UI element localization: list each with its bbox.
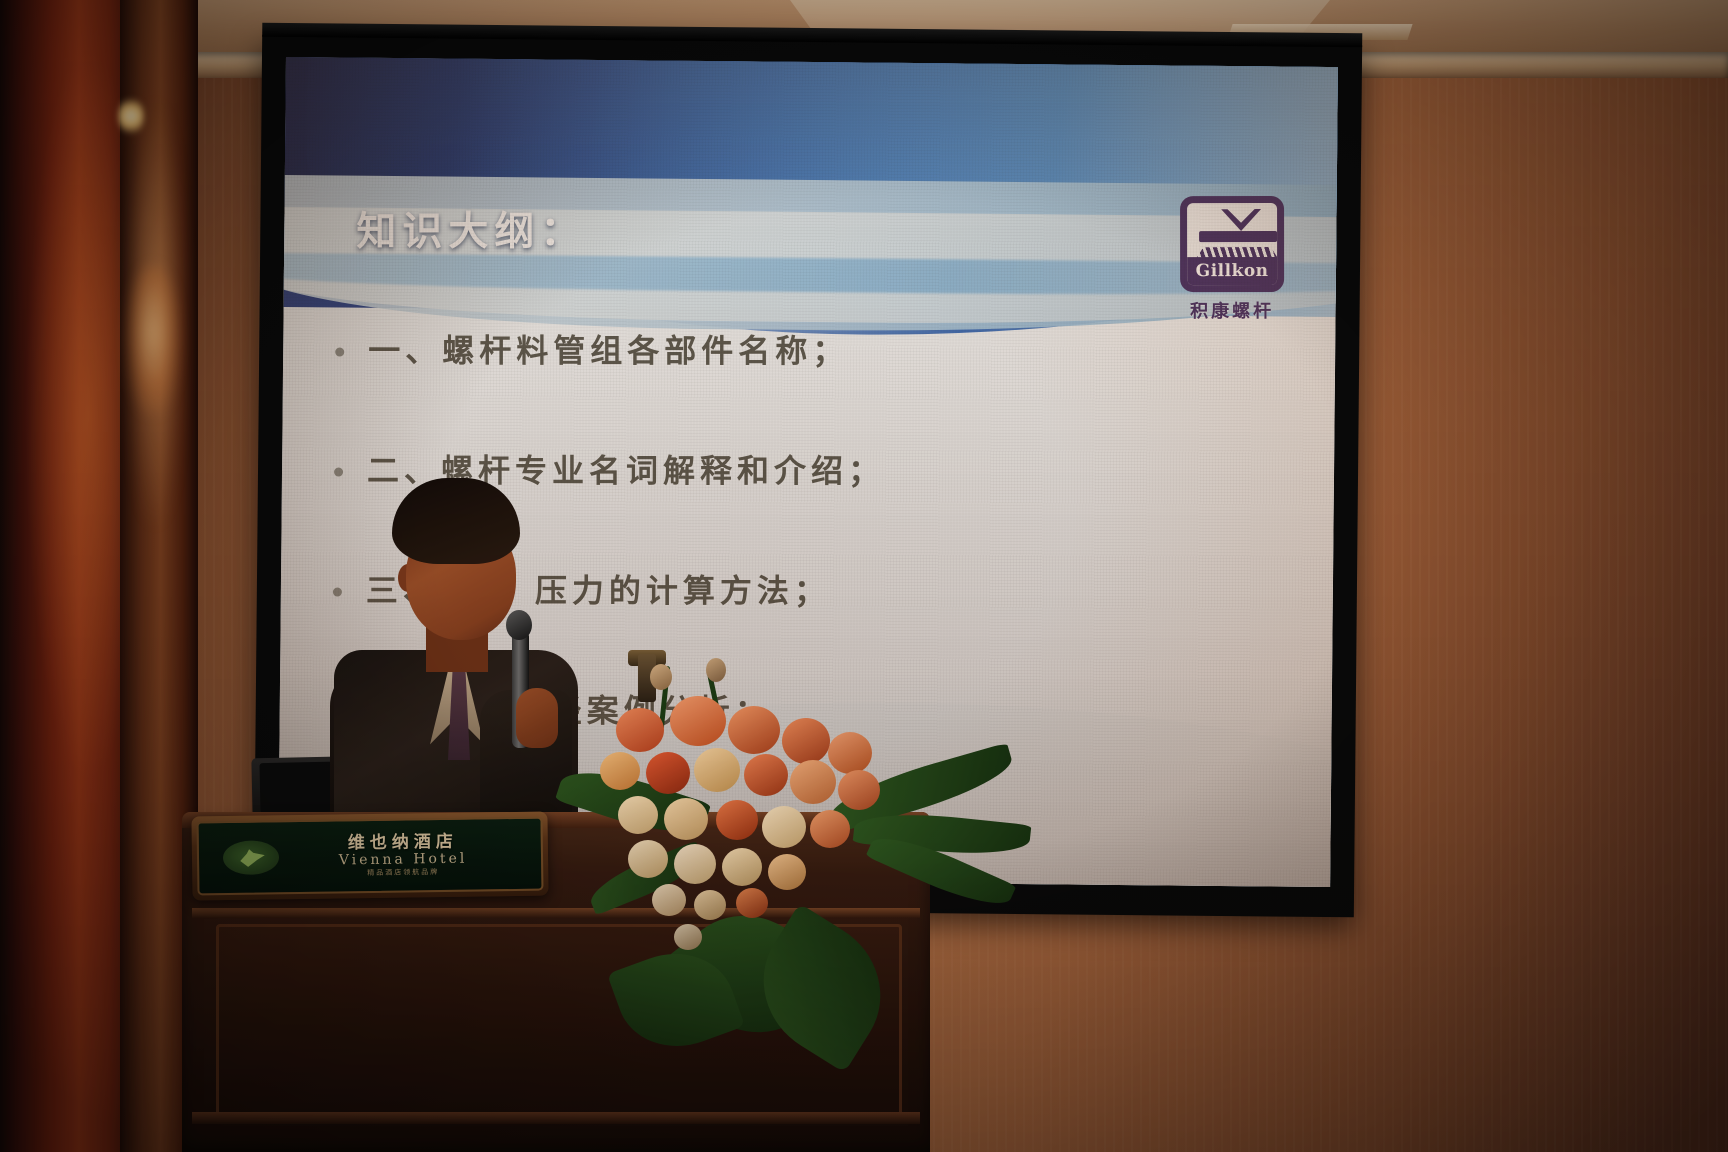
dried-bud: [706, 658, 726, 682]
hotel-nameplate: 维也纳酒店 Vienna Hotel 精品酒店领航品牌: [191, 812, 548, 901]
red-rose: [646, 752, 690, 794]
white-rose: [628, 840, 668, 878]
gillkon-logo-mark: Gillkon: [1180, 196, 1284, 292]
orange-lily: [616, 708, 664, 752]
speaker-hand: [516, 688, 558, 748]
bullet-text: 一、螺杆料管组各部件名称；: [368, 326, 849, 372]
orange-rose: [716, 800, 758, 840]
cream-rose: [694, 890, 726, 920]
peach-rose: [600, 752, 640, 790]
orange-lily: [670, 696, 726, 746]
orange-lily: [782, 718, 830, 764]
orange-rose: [736, 888, 768, 918]
podium-rail-lower: [192, 1112, 920, 1124]
logo-bar-shape: [1199, 231, 1277, 242]
white-rose: [674, 924, 702, 950]
wall-sconce-glow: [126, 265, 180, 415]
orange-rose: [838, 770, 880, 810]
orange-rose: [810, 810, 850, 848]
peach-rose: [768, 854, 806, 890]
list-item: 一、螺杆料管组各部件名称；: [335, 326, 1275, 373]
wall-light-point: [118, 96, 144, 136]
speaker-hair: [392, 478, 520, 564]
flower-arrangement: [566, 648, 1016, 1028]
wings-icon: [1221, 209, 1261, 231]
orange-lily: [728, 706, 780, 754]
white-rose: [762, 806, 806, 848]
orange-lily: [828, 732, 872, 774]
peach-rose: [790, 760, 836, 804]
white-rose: [618, 796, 658, 834]
bullet-dot-icon: [335, 348, 344, 357]
cream-rose: [694, 748, 740, 792]
slide-title: 知识大纲：: [356, 199, 586, 257]
nameplate-inner: 维也纳酒店 Vienna Hotel 精品酒店领航品牌: [197, 817, 544, 896]
hotel-name-english: Vienna Hotel: [279, 851, 527, 869]
conference-room-photo: 知识大纲： 一、螺杆料管组各部件名称； 二、螺杆专业名词解释和介绍； 三、 、压…: [0, 0, 1728, 1152]
cream-rose: [664, 798, 708, 840]
cream-rose: [722, 848, 762, 886]
hotel-tagline: 精品酒店领航品牌: [279, 867, 527, 878]
dried-bud: [650, 664, 672, 690]
gillkon-logo: Gillkon 积康螺杆: [1180, 196, 1284, 323]
logo-wordmark: Gillkon: [1187, 257, 1277, 285]
vienna-swan-logo: [223, 840, 279, 875]
nameplate-text: 维也纳酒店 Vienna Hotel 精品酒店领航品牌: [279, 833, 542, 879]
orange-rose: [744, 754, 788, 796]
white-rose: [674, 844, 716, 884]
white-rose: [652, 884, 686, 916]
swan-icon: [236, 847, 266, 867]
bullet-dot-icon: [334, 468, 343, 477]
microphone-icon: [506, 610, 532, 640]
logo-chinese-name: 积康螺杆: [1180, 297, 1284, 323]
